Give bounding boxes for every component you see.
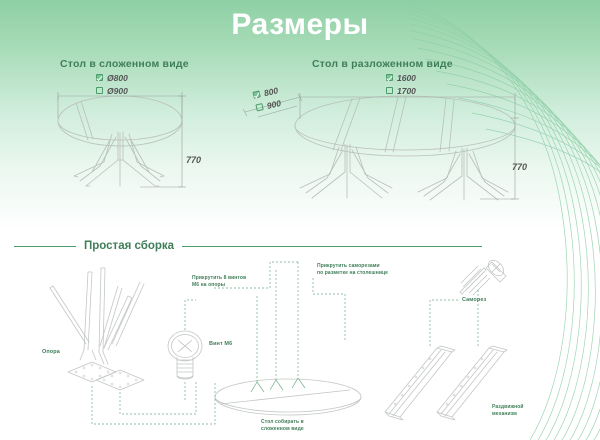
unfolded-height-dimension: 770 xyxy=(512,162,527,172)
instruction-bolt: Прикрутить 8 винтов М6 на опоры xyxy=(192,275,246,290)
note-tabletop-line1: Стол собирать в xyxy=(261,419,304,426)
option-label: 800 xyxy=(263,85,279,98)
instruction-bolt-line1: Прикрутить 8 винтов xyxy=(192,275,246,282)
section-heading-folded: Стол в сложенном виде xyxy=(60,58,189,70)
page-title: Размеры xyxy=(0,8,600,42)
checkbox-checked-icon[interactable] xyxy=(386,74,393,81)
option-label: Ø800 xyxy=(107,73,128,83)
checkbox-checked-icon[interactable] xyxy=(96,74,103,81)
option-label: 900 xyxy=(266,97,282,110)
option-label: Ø900 xyxy=(107,86,128,96)
unfolded-depth-options[interactable]: 800 900 xyxy=(252,84,282,115)
option-diameter-900[interactable]: Ø900 xyxy=(96,85,128,96)
option-length-1600[interactable]: 1600 xyxy=(386,72,416,83)
assembly-heading: Простая сборка xyxy=(84,240,174,252)
option-label: 1700 xyxy=(397,86,416,96)
note-tabletop-line2: сложенном виде xyxy=(261,426,304,433)
instruction-screw-line1: Прикрутить саморезами xyxy=(317,263,388,270)
checkbox-empty-icon[interactable] xyxy=(386,87,393,94)
section-heading-unfolded: Стол в разложенном виде xyxy=(312,58,453,70)
unfolded-length-options[interactable]: 1600 1700 xyxy=(386,72,416,98)
checkbox-empty-icon[interactable] xyxy=(96,87,103,94)
instruction-screw-line2: по разметке на столешнице xyxy=(317,270,388,277)
label-mechanism: Раздвижной механизм xyxy=(492,404,524,419)
note-tabletop: Стол собирать в сложенном виде xyxy=(261,419,304,434)
instruction-bolt-line2: М6 на опоры xyxy=(192,282,246,289)
folded-diameter-options[interactable]: Ø800 Ø900 xyxy=(96,72,128,98)
label-bolt: Винт М6 xyxy=(209,341,232,349)
instruction-screw: Прикрутить саморезами по разметке на сто… xyxy=(317,263,388,278)
checkbox-checked-icon[interactable] xyxy=(252,90,260,98)
label-mechanism-line2: механизм xyxy=(492,411,524,418)
option-length-1700[interactable]: 1700 xyxy=(386,85,416,96)
label-mechanism-line1: Раздвижной xyxy=(492,404,524,411)
infographic-page: Размеры Стол в сложенном виде Стол в раз… xyxy=(0,0,600,440)
checkbox-empty-icon[interactable] xyxy=(255,103,263,111)
heading-rule-right xyxy=(182,246,482,247)
folded-height-dimension: 770 xyxy=(186,155,201,165)
heading-rule-left xyxy=(14,246,76,247)
label-support: Опора xyxy=(42,349,60,357)
assembly-heading-row: Простая сборка xyxy=(0,238,600,254)
option-label: 1600 xyxy=(397,73,416,83)
option-diameter-800[interactable]: Ø800 xyxy=(96,72,128,83)
label-screw: Саморез xyxy=(462,297,486,305)
